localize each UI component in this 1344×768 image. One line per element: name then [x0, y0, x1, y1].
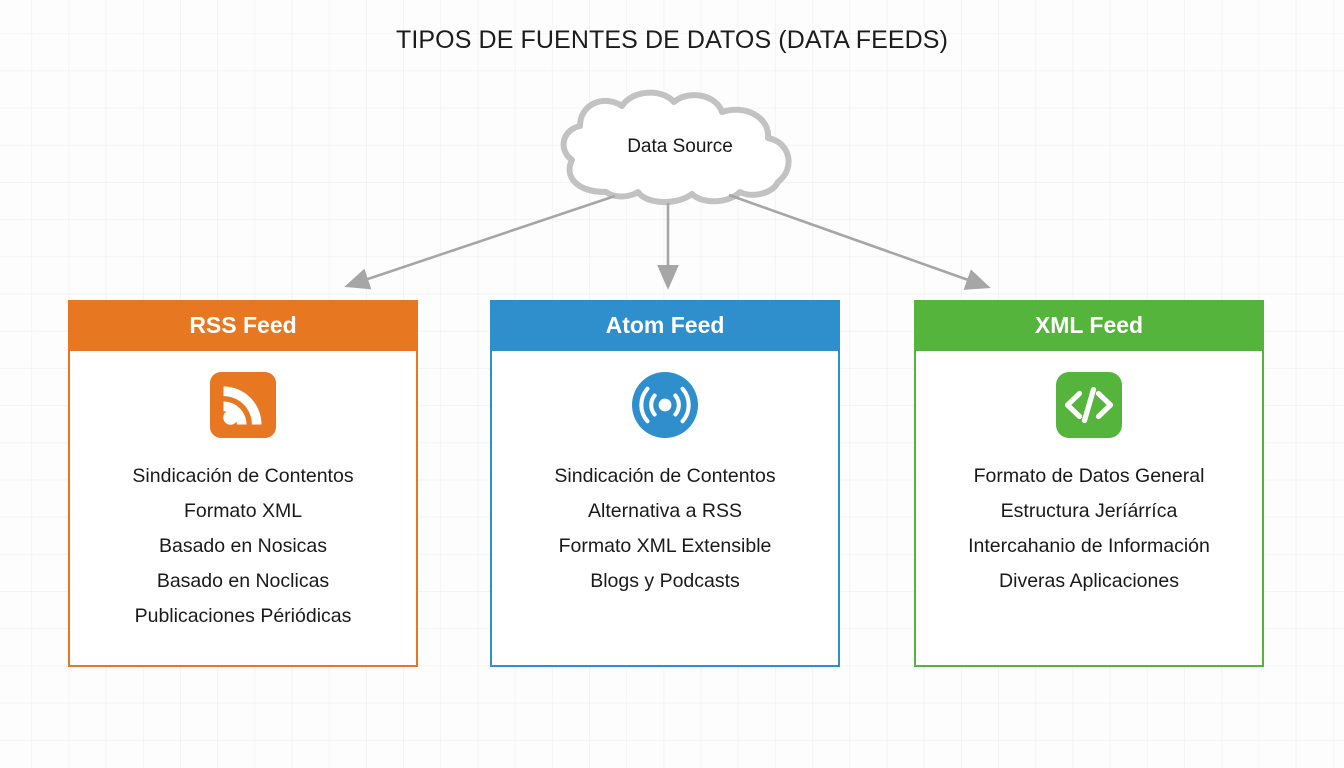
card-line: Diveras Aplicaciones: [916, 564, 1262, 599]
card-line: Formato XML Extensible: [492, 529, 838, 564]
card-body-xml: Formato de Datos General Estructura Jerí…: [916, 459, 1262, 599]
card-title-rss: RSS Feed: [68, 300, 418, 351]
data-source-cloud: Data Source: [546, 88, 814, 206]
card-line: Alternativa a RSS: [492, 494, 838, 529]
broadcast-signal-icon: [492, 351, 838, 459]
card-line: Formato XML: [70, 494, 416, 529]
card-line: Sindicación de Contentos: [70, 459, 416, 494]
card-line: Blogs y Podcasts: [492, 564, 838, 599]
card-title-xml: XML Feed: [914, 300, 1264, 351]
card-line: Basado en Nosicas: [70, 529, 416, 564]
card-line: Intercahanio de Información: [916, 529, 1262, 564]
rss-icon: [70, 351, 416, 459]
card-body-rss: Sindicación de Contentos Formato XML Bas…: [70, 459, 416, 634]
page-title: TIPOS DE FUENTES DE DATOS (DATA FEEDS): [0, 26, 1344, 55]
card-title-atom: Atom Feed: [490, 300, 840, 351]
code-brackets-icon: [916, 351, 1262, 459]
card-line: Sindicación de Contentos: [492, 459, 838, 494]
card-body-atom: Sindicación de Contentos Alternativa a R…: [492, 459, 838, 599]
card-line: Estructura Jeríárríca: [916, 494, 1262, 529]
feed-card-xml[interactable]: XML Feed Formato de Datos General Estruc…: [914, 300, 1264, 667]
data-source-label: Data Source: [546, 136, 814, 158]
card-line: Formato de Datos General: [916, 459, 1262, 494]
card-line: Basado en Noclicas: [70, 564, 416, 599]
feed-card-atom[interactable]: Atom Feed Sindicación de Contentos Alter…: [490, 300, 840, 667]
card-line: Publicaciones Périódicas: [70, 599, 416, 634]
feed-card-rss[interactable]: RSS Feed Sindicación de Contentos Format…: [68, 300, 418, 667]
